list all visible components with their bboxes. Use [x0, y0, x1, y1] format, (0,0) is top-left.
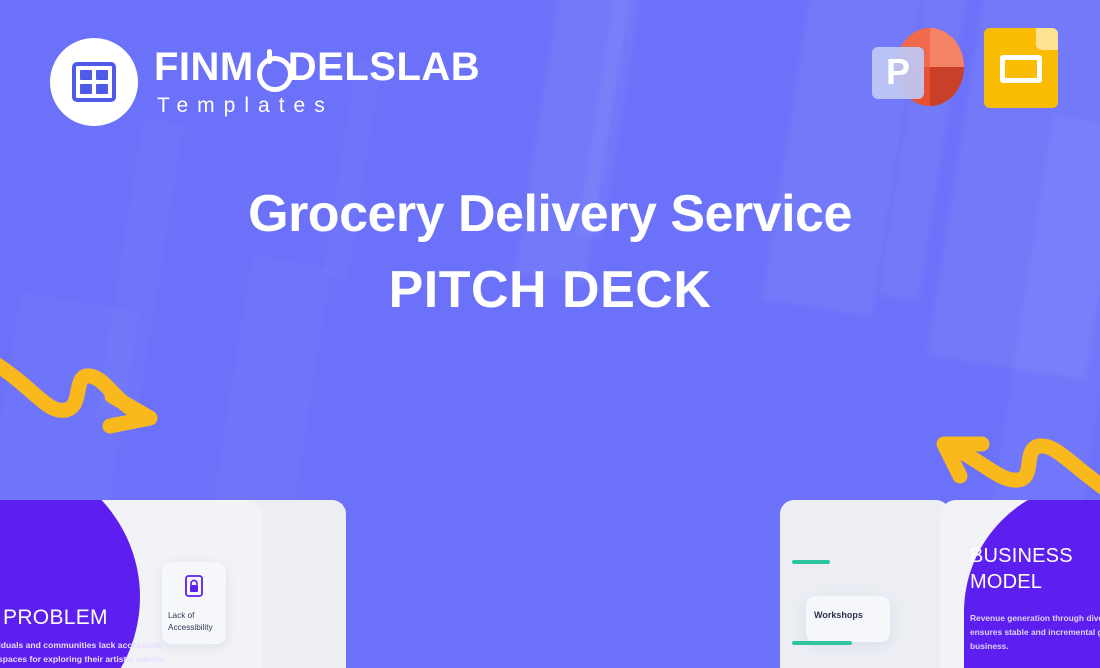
lack-label-line1: Lack of — [168, 610, 222, 622]
slide-thumbnail-strip: Workshops THE PROBLEM Many individuals a… — [0, 500, 1100, 668]
problem-body-text: Many individuals and communities lack ac… — [0, 639, 178, 668]
brand-name-part2: DELSLAB — [288, 47, 480, 87]
background-slide-right[interactable]: Workshops — [780, 500, 950, 668]
lack-label-line2: Accessibility — [168, 622, 222, 634]
business-body-text: Revenue generation through diverse strea… — [970, 612, 1100, 654]
brush-stroke-decoration — [988, 116, 1100, 545]
slide-preview-canvas: FINMDELSLAB Templates P Grocery Delivery… — [0, 0, 1100, 668]
squiggly-arrow-left-icon — [924, 428, 1100, 508]
brand-subtitle: Templates — [154, 94, 480, 118]
business-model-title: BUSINESS MODEL — [970, 544, 1073, 595]
google-slides-icon[interactable] — [984, 22, 1058, 114]
hero-title-line2: PITCH DECK — [0, 261, 1100, 321]
powerpoint-letter-badge: P — [872, 47, 924, 99]
power-o-icon — [254, 50, 288, 84]
grid-squares-icon — [72, 62, 116, 102]
workshops-card[interactable]: Workshops — [806, 596, 890, 642]
powerpoint-icon[interactable]: P — [870, 22, 962, 114]
brand-wordmark: FINMDELSLAB Templates — [154, 47, 480, 118]
lack-of-accessibility-label: Lack of Accessibility — [168, 610, 222, 634]
squiggly-arrow-right-icon — [0, 352, 194, 437]
chart-bar — [792, 560, 830, 564]
brand-logo[interactable]: FINMDELSLAB Templates — [50, 38, 480, 126]
brand-name: FINMDELSLAB — [154, 47, 480, 87]
lack-of-accessibility-card[interactable]: Lack of Accessibility — [162, 562, 226, 644]
business-title-line1: BUSINESS — [970, 544, 1073, 570]
workshops-label: Workshops — [814, 610, 863, 620]
locked-document-icon — [183, 574, 205, 598]
business-model-slide-thumbnail[interactable]: BUSINESS MODEL Revenue generation throug… — [940, 500, 1100, 668]
powerpoint-letter: P — [886, 54, 910, 90]
hero-title-line1: Grocery Delivery Service — [0, 185, 1100, 245]
logo-circle — [50, 38, 138, 126]
problem-slide-thumbnail[interactable]: THE PROBLEM Many individuals and communi… — [0, 500, 262, 668]
slides-rectangle-glyph — [1000, 55, 1042, 83]
problem-title: THE PROBLEM — [0, 606, 108, 630]
format-icons: P — [870, 22, 1058, 114]
chart-bar — [792, 641, 852, 645]
brand-name-part1: FINM — [154, 47, 254, 87]
slides-fold-corner — [1036, 28, 1058, 50]
hero-title-block: Grocery Delivery Service PITCH DECK — [0, 185, 1100, 321]
business-title-line2: MODEL — [970, 570, 1073, 596]
